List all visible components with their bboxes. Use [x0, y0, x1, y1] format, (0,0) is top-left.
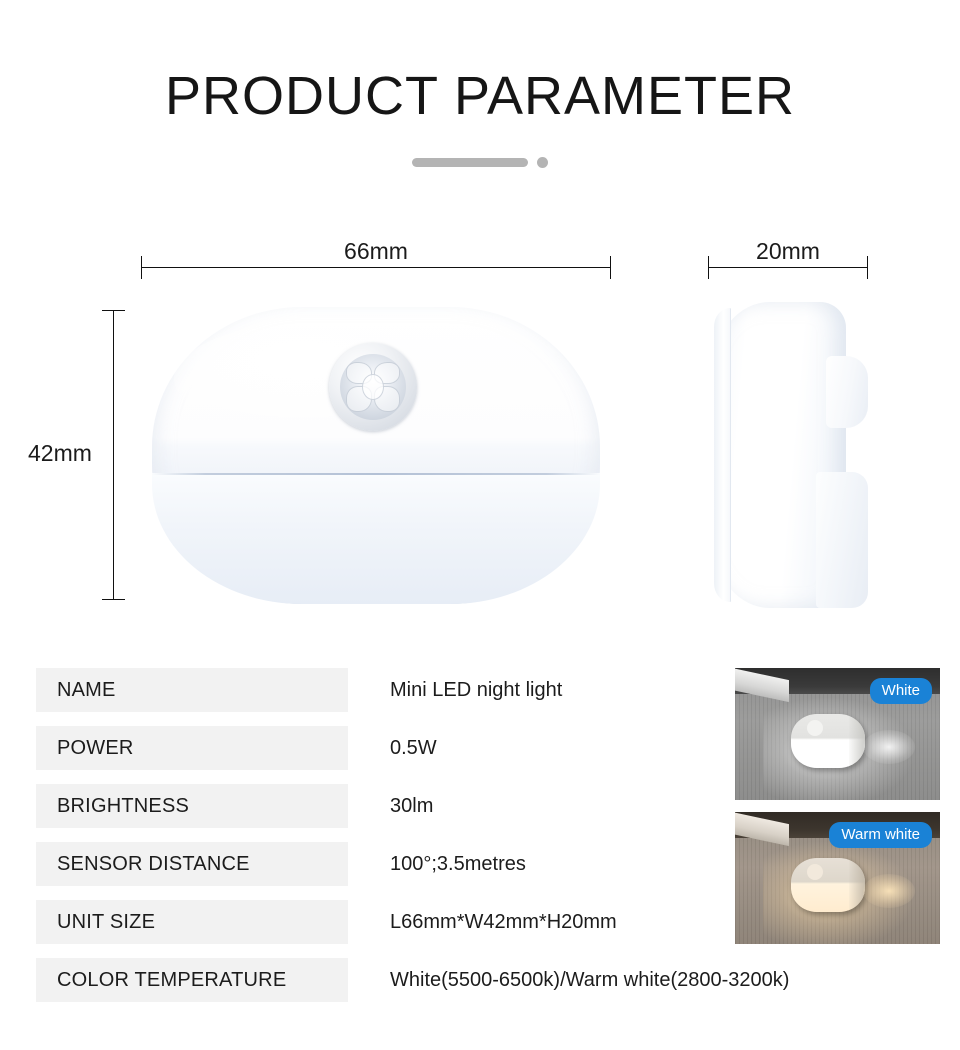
height-dimension-line — [113, 310, 114, 600]
decoration-dot — [537, 157, 548, 168]
pir-sensor-icon — [329, 343, 417, 431]
pir-lens — [340, 354, 406, 420]
spec-label-color-temperature: COLOR TEMPERATURE — [36, 958, 348, 1002]
photo-lamp-sensor — [807, 864, 823, 880]
front-diffuser-panel — [152, 473, 600, 604]
badge-white: White — [870, 678, 932, 704]
title-decoration — [0, 155, 960, 169]
photo-lamp-body — [791, 858, 865, 912]
badge-warm-white: Warm white — [829, 822, 932, 848]
product-side-view — [706, 302, 870, 608]
photo-lamp-sensor — [807, 720, 823, 736]
side-sensor-lens — [826, 356, 868, 428]
front-seam-line — [152, 473, 600, 475]
product-front-view — [152, 307, 600, 604]
photo-lamp-body — [791, 714, 865, 768]
side-diffuser — [816, 472, 868, 608]
decoration-bar — [412, 158, 528, 167]
spec-label-sensor-distance: SENSOR DISTANCE — [36, 842, 348, 886]
dimension-diagram: 66mm 20mm 42mm — [0, 210, 960, 630]
depth-dimension-label: 20mm — [708, 238, 868, 264]
spec-value-sensor-distance: 100°;3.5metres — [390, 842, 526, 886]
photo-wall-spot — [863, 730, 915, 764]
photo-lamp-edge — [849, 714, 865, 768]
spec-value-unit-size: L66mm*W42mm*H20mm — [390, 900, 617, 944]
spec-label-unit-size: UNIT SIZE — [36, 900, 348, 944]
height-dimension-label: 42mm — [28, 440, 92, 466]
product-photo-warm-white: Warm white — [735, 812, 940, 944]
table-row: COLOR TEMPERATURE White(5500-6500k)/Warm… — [0, 958, 960, 1002]
side-backplate — [714, 308, 731, 602]
width-dimension-label: 66mm — [141, 238, 611, 264]
spec-value-power: 0.5W — [390, 726, 437, 770]
photo-wall-spot — [863, 874, 915, 908]
pir-facet — [362, 374, 384, 400]
spec-label-name: NAME — [36, 668, 348, 712]
spec-value-name: Mini LED night light — [390, 668, 562, 712]
depth-dimension-line — [708, 267, 868, 268]
width-dimension-line — [141, 267, 611, 268]
spec-value-brightness: 30lm — [390, 784, 433, 828]
photo-lamp-edge — [849, 858, 865, 912]
product-photo-white: White — [735, 668, 940, 800]
spec-label-brightness: BRIGHTNESS — [36, 784, 348, 828]
page-title: PRODUCT PARAMETER — [0, 64, 960, 128]
spec-value-color-temperature: White(5500-6500k)/Warm white(2800-3200k) — [390, 958, 789, 1002]
spec-label-power: POWER — [36, 726, 348, 770]
